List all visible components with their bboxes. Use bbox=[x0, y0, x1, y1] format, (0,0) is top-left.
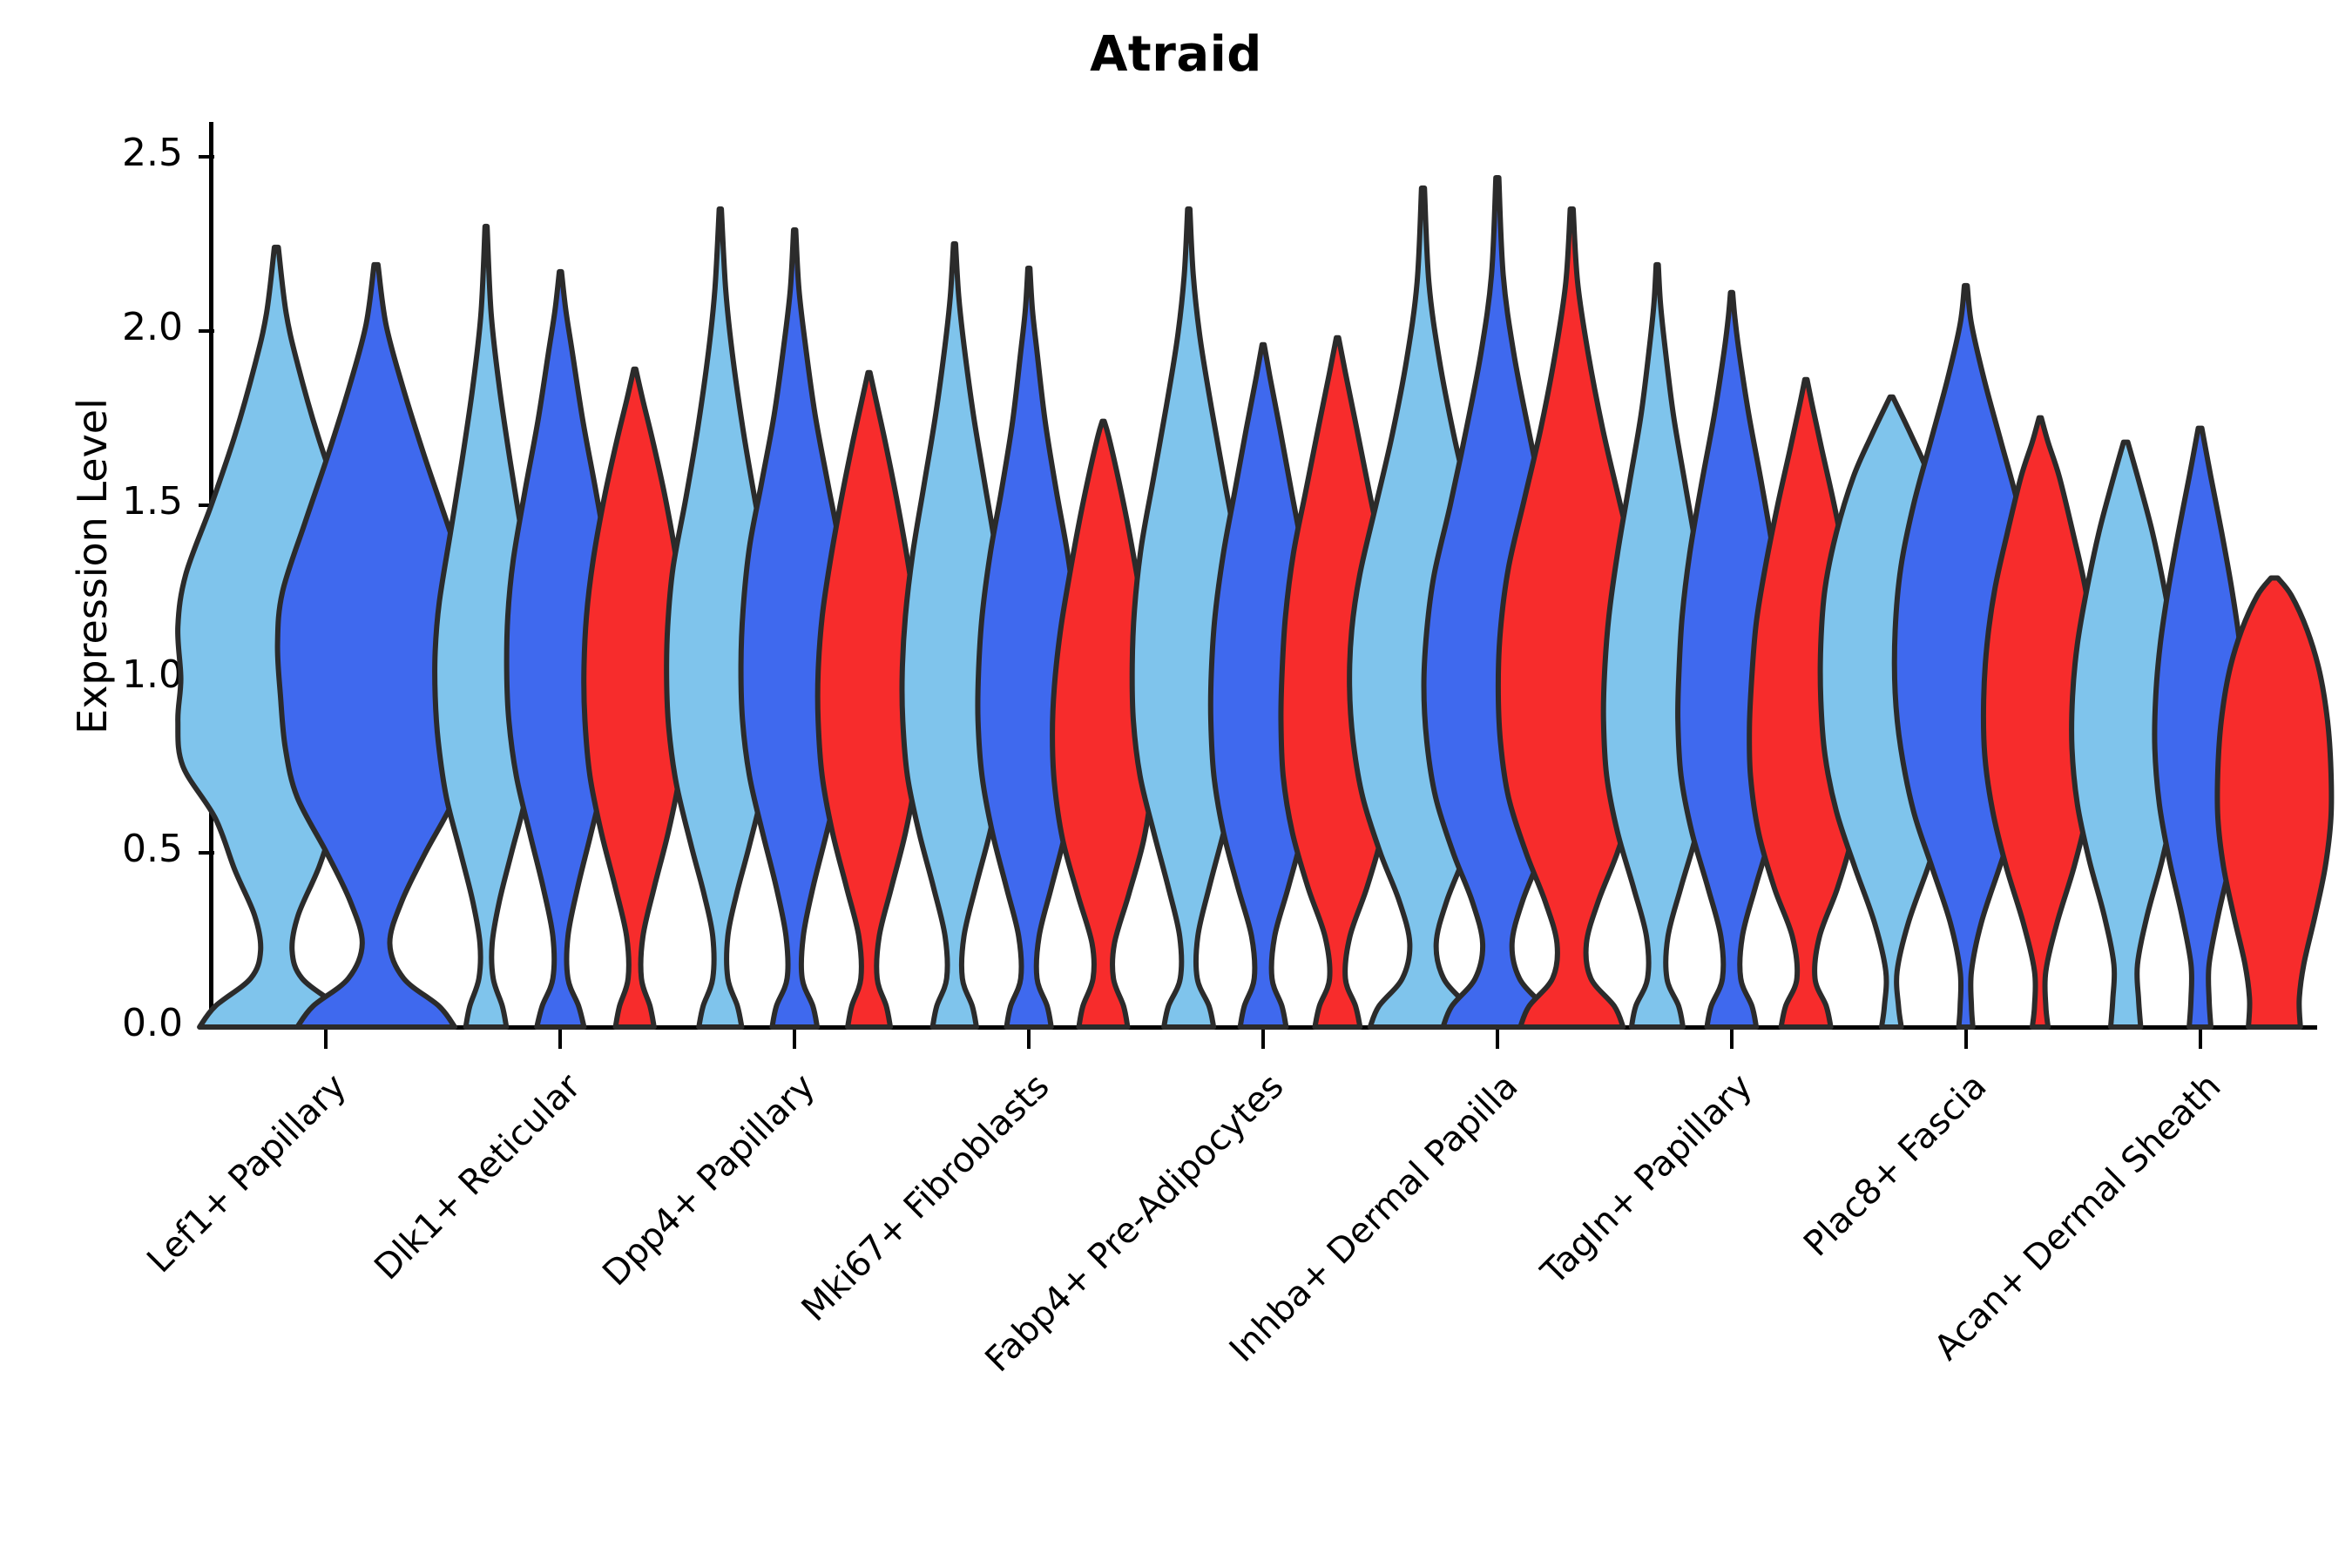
y-tick-1.0 bbox=[199, 677, 214, 680]
violin-0-1 bbox=[278, 265, 475, 1027]
y-tick-label: 0.5 bbox=[52, 827, 183, 871]
x-tick-5 bbox=[1496, 1030, 1499, 1049]
x-tick-8 bbox=[2199, 1030, 2202, 1049]
x-tick-label-5: Inhba+ Dermal Papilla bbox=[1066, 1066, 1526, 1526]
y-tick-2.5 bbox=[199, 155, 214, 159]
violin-4-2 bbox=[1281, 338, 1394, 1027]
violin-plot-figure: Atraid Expression Level 0.00.51.01.52.02… bbox=[0, 0, 2352, 1568]
violin-7-1 bbox=[1895, 286, 2038, 1027]
violin-5-0 bbox=[1349, 188, 1497, 1027]
x-tick-1 bbox=[558, 1030, 562, 1049]
y-tick-1.5 bbox=[199, 504, 214, 507]
x-tick-label-6: TagIn+ Papillary bbox=[1301, 1066, 1761, 1526]
violin-5-1 bbox=[1424, 178, 1571, 1027]
violin-6-2 bbox=[1749, 380, 1862, 1027]
violin-4-0 bbox=[1132, 209, 1246, 1027]
violin-2-1 bbox=[741, 230, 848, 1027]
y-tick-2.0 bbox=[199, 329, 214, 333]
violin-6-0 bbox=[1604, 265, 1712, 1027]
violin-1-1 bbox=[507, 272, 614, 1027]
violin-1-0 bbox=[435, 226, 537, 1027]
x-tick-6 bbox=[1730, 1030, 1734, 1049]
y-tick-label: 2.5 bbox=[52, 131, 183, 175]
violin-1-2 bbox=[584, 369, 686, 1027]
y-tick-label: 1.0 bbox=[52, 652, 183, 697]
violin-7-0 bbox=[1821, 397, 1963, 1027]
x-tick-label-1: Dlk1+ Reticular bbox=[129, 1066, 589, 1526]
x-tick-label-2: Dpp4+ Papillary bbox=[363, 1066, 823, 1526]
y-tick-0.0 bbox=[199, 1025, 214, 1029]
x-tick-label-4: Fabp4+ Pre-Adipocytes bbox=[832, 1066, 1292, 1526]
violin-4-1 bbox=[1211, 345, 1316, 1027]
y-tick-label: 1.5 bbox=[52, 479, 183, 524]
violin-0-0 bbox=[178, 247, 375, 1027]
x-tick-0 bbox=[324, 1030, 328, 1049]
violin-8-2 bbox=[2217, 578, 2331, 1028]
violin-3-0 bbox=[902, 244, 1007, 1027]
x-tick-3 bbox=[1027, 1030, 1031, 1049]
y-tick-0.5 bbox=[199, 851, 214, 855]
violin-2-0 bbox=[666, 209, 774, 1027]
violin-7-2 bbox=[1984, 418, 2097, 1027]
x-tick-7 bbox=[1964, 1030, 1968, 1049]
chart-title: Atraid bbox=[0, 26, 2352, 83]
x-tick-2 bbox=[793, 1030, 796, 1049]
violin-8-0 bbox=[2072, 443, 2180, 1027]
violin-5-2 bbox=[1498, 209, 1646, 1027]
y-tick-label: 0.0 bbox=[52, 1001, 183, 1045]
x-tick-label-7: Plac8+ Fascia bbox=[1535, 1066, 1995, 1526]
x-tick-label-3: Mki67+ Fibroblasts bbox=[598, 1066, 1058, 1526]
y-axis-label: Expression Level bbox=[69, 287, 116, 845]
y-axis-spine bbox=[209, 122, 213, 1029]
violin-3-1 bbox=[977, 268, 1079, 1027]
violin-shapes-layer bbox=[0, 0, 2352, 1568]
violin-6-1 bbox=[1678, 293, 1785, 1027]
x-tick-label-8: Acan+ Dermal Sheath bbox=[1769, 1066, 2229, 1526]
violin-8-1 bbox=[2154, 429, 2245, 1027]
violin-2-2 bbox=[818, 373, 921, 1027]
x-tick-4 bbox=[1261, 1030, 1265, 1049]
violin-3-2 bbox=[1052, 422, 1154, 1027]
y-tick-label: 2.0 bbox=[52, 305, 183, 349]
